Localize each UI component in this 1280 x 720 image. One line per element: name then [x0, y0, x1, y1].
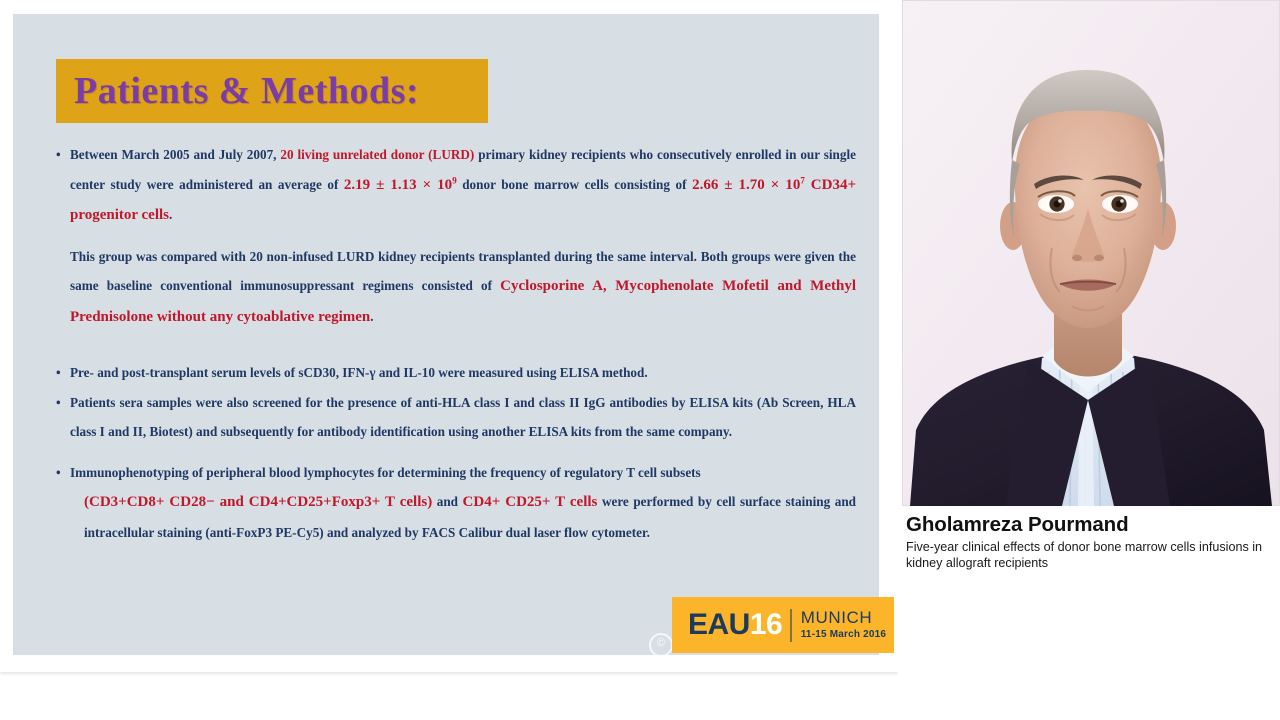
b4-seg-3: and: [432, 494, 462, 509]
eau16-congress-logo: EAU16 MUNICH 11-15 March 2016: [672, 597, 894, 653]
p1-seg-5: donor bone marrow cells consisting of: [457, 177, 692, 192]
spacer-2: [56, 332, 856, 358]
bullet-marker-icon: •: [56, 358, 70, 388]
p2-seg-3: .: [370, 309, 373, 324]
eau-logo-mark: EAU16: [688, 610, 782, 640]
speaker-panel: Gholamreza Pourmand Five-year clinical e…: [898, 0, 1280, 720]
speaker-name: Gholamreza Pourmand: [906, 512, 1274, 538]
paragraph-1-text: Between March 2005 and July 2007, 20 liv…: [70, 140, 856, 231]
b4-seg-2-red: (CD3+CD8+ CD28− and CD4+CD25+Foxp3+ T ce…: [84, 494, 432, 510]
slide-panel: Patients & Methods: • Between March 2005…: [0, 0, 898, 672]
p1-seg-4-red: 2.19 ± 1.13 × 10: [344, 177, 452, 193]
eau-logo-city: MUNICH: [801, 609, 886, 627]
bullet-3-text: Patients sera samples were also screened…: [70, 388, 856, 447]
spacer-1: [56, 231, 856, 242]
eau-logo-dates: 11-15 March 2016: [801, 630, 886, 641]
slide-paragraph-2: This group was compared with 20 non-infu…: [56, 242, 856, 333]
eau-logo-location-block: MUNICH 11-15 March 2016: [801, 609, 886, 640]
speaker-metadata: Gholamreza Pourmand Five-year clinical e…: [906, 512, 1274, 571]
slide-body: • Between March 2005 and July 2007, 20 l…: [56, 140, 856, 547]
bullet-4-line-1: Immunophenotyping of peripheral blood ly…: [70, 458, 856, 488]
spacer-3: [56, 447, 856, 458]
p1-seg-8: .: [169, 207, 172, 222]
slide-bullet-2: • Pre- and post-transplant serum levels …: [56, 358, 856, 388]
slide-title-band: Patients & Methods:: [56, 59, 488, 123]
copyright-watermark-icon: ©: [649, 633, 673, 657]
talk-title: Five-year clinical effects of donor bone…: [906, 540, 1274, 571]
p1-seg-1: Between March 2005 and July 2007,: [70, 147, 280, 162]
bullet-4-line-2: (CD3+CD8+ CD28− and CD4+CD25+Foxp3+ T ce…: [70, 487, 856, 547]
b4-seg-4-red: CD4+ CD25+ T cells: [463, 494, 598, 510]
slide-bullet-1: • Between March 2005 and July 2007, 20 l…: [56, 140, 856, 231]
eau-logo-year: 16: [750, 608, 782, 641]
slide-surface: Patients & Methods: • Between March 2005…: [13, 14, 879, 655]
paragraph-2-text: This group was compared with 20 non-infu…: [70, 242, 856, 333]
p1-seg-6-red: 2.66 ± 1.70 × 10: [692, 177, 800, 193]
bullet-marker-icon: •: [56, 388, 70, 418]
slide-bullet-4: • Immunophenotyping of peripheral blood …: [56, 458, 856, 548]
eau-logo-letters: EAU: [688, 608, 750, 641]
page-title: Patients & Methods:: [56, 69, 419, 113]
p1-seg-2-red: 20 living unrelated donor (LURD): [280, 147, 474, 162]
slide-bullet-3: • Patients sera samples were also screen…: [56, 388, 856, 447]
speaker-portrait-photo: [902, 0, 1280, 506]
logo-divider: [790, 609, 792, 642]
portrait-illustration: [902, 0, 1280, 506]
presentation-viewer: Patients & Methods: • Between March 2005…: [0, 0, 1280, 720]
bullet-2-text: Pre- and post-transplant serum levels of…: [70, 358, 856, 388]
bullet-marker-icon: •: [56, 458, 70, 488]
bullet-marker-icon: •: [56, 140, 70, 170]
